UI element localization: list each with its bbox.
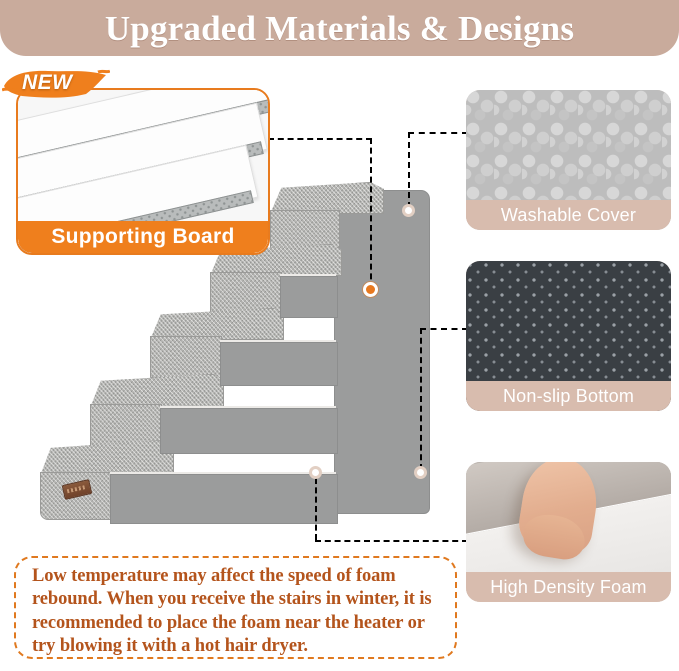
stairs-tread-1 (40, 440, 174, 476)
new-badge-label: NEW (22, 71, 73, 95)
stairs-riser-4 (210, 272, 282, 312)
supporting-board-label: Supporting Board (51, 225, 234, 249)
header-banner: Upgraded Materials & Designs (0, 0, 679, 56)
stairs-side-panel (334, 190, 430, 514)
new-badge: NEW (2, 66, 110, 102)
non-slip-bottom-label-bar: Non-slip Bottom (466, 381, 671, 411)
high-density-foam-label-bar: High Density Foam (466, 572, 671, 602)
stairs-front-face-2 (160, 408, 338, 454)
stairs-front-face-4 (280, 276, 338, 318)
supporting-board-label-bar: Supporting Board (18, 221, 268, 253)
connector-dot-washable-cover (402, 204, 415, 217)
connector-dot-high-density-foam (309, 466, 322, 479)
stairs-front-face-1 (110, 474, 338, 524)
connector-foam-h (315, 540, 468, 542)
connector-supporting-board-v (370, 138, 372, 289)
connector-supporting-board-h (268, 138, 372, 140)
card-washable-cover[interactable]: Washable Cover (466, 90, 671, 230)
connector-nonslip-v (420, 328, 422, 470)
panel-supporting-board[interactable]: Supporting Board (16, 88, 270, 255)
non-slip-bottom-label: Non-slip Bottom (503, 386, 634, 407)
page-title: Upgraded Materials & Designs (105, 11, 574, 46)
card-non-slip-bottom[interactable]: Non-slip Bottom (466, 261, 671, 411)
connector-dot-nonslip-bottom (414, 466, 427, 479)
stairs-riser-5 (270, 210, 340, 248)
stairs-piping-4 (280, 274, 336, 276)
temperature-note-box: Low temperature may affect the speed of … (14, 556, 457, 659)
stairs-piping-3 (220, 340, 336, 342)
temperature-note-text: Low temperature may affect the speed of … (32, 565, 441, 658)
stairs-piping-2 (160, 406, 336, 408)
infographic-canvas: Upgraded Materials & Designs (0, 0, 679, 671)
stairs-riser-2 (90, 404, 162, 446)
stairs-piping-1 (110, 472, 336, 474)
stairs-tread-2 (90, 374, 224, 408)
card-high-density-foam[interactable]: High Density Foam (466, 462, 671, 602)
connector-washable-v (408, 132, 410, 208)
stairs-riser-3 (150, 336, 222, 378)
washable-cover-label-bar: Washable Cover (466, 200, 671, 230)
stairs-front-face-3 (220, 342, 338, 386)
high-density-foam-label: High Density Foam (490, 577, 646, 598)
connector-dot-supporting-board (363, 282, 378, 297)
connector-nonslip-h (420, 328, 468, 330)
washable-cover-label: Washable Cover (501, 205, 636, 226)
connector-foam-v (315, 478, 317, 540)
connector-washable-h (408, 132, 468, 134)
